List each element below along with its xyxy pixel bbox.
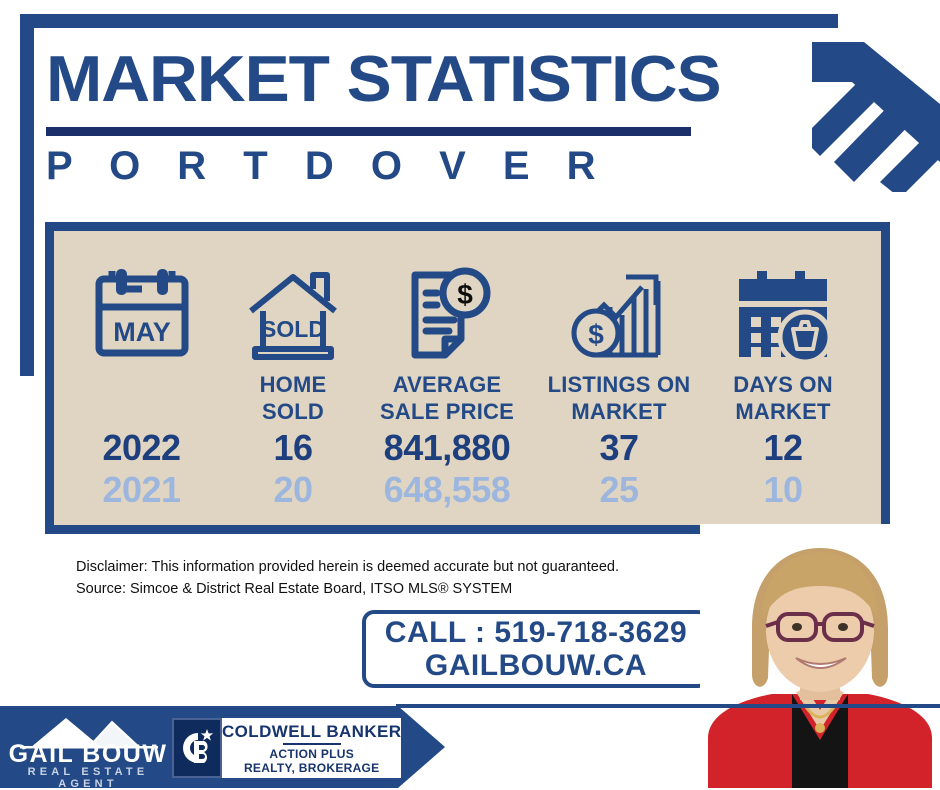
value-previous: 20	[273, 469, 312, 511]
label-line-1: LISTINGS ON	[548, 371, 691, 398]
value-previous: 25	[599, 469, 638, 511]
label-line-2: MARKET	[548, 398, 691, 425]
svg-text:$: $	[457, 279, 473, 310]
page-title: MARKET STATISTICS	[46, 44, 836, 114]
svg-text:SOLD: SOLD	[261, 316, 325, 342]
values-days-on-market: 12 10	[701, 427, 865, 511]
svg-text:MAY: MAY	[113, 317, 171, 347]
value-current: 37	[599, 427, 638, 469]
calendar-basket-icon	[733, 255, 833, 363]
footer-divider-rule	[396, 704, 940, 708]
contact-website[interactable]: GAILBOUW.CA	[425, 649, 647, 682]
market-statistics-graphic: MARKET STATISTICS P O R T D O V E R	[0, 0, 940, 788]
frame-left-border	[20, 14, 34, 376]
label-line-2: SOLD	[260, 398, 327, 425]
frame-top-border	[20, 14, 838, 28]
brokerage-line-2: ACTION PLUS	[269, 747, 354, 761]
brokerage-name-block: COLDWELL BANKER ACTION PLUS REALTY, BROK…	[222, 718, 401, 778]
agent-photo	[700, 524, 940, 788]
document-dollar-icon: $	[399, 255, 495, 363]
label-line-1: AVERAGE	[380, 371, 514, 398]
stat-label-average-sale-price: AVERAGE SALE PRICE	[380, 371, 514, 425]
label-line-2: MARKET	[733, 398, 833, 425]
stat-label-listings-on-market: LISTINGS ON MARKET	[548, 371, 691, 425]
value-current: 12	[763, 427, 802, 469]
year-labels-column: 2022 2021	[54, 427, 229, 511]
values-home-sold: 16 20	[229, 427, 357, 511]
brokerage-logo: COLDWELL BANKER ACTION PLUS REALTY, BROK…	[172, 718, 400, 778]
growth-chart-dollar-icon: $	[570, 255, 668, 363]
label-line-1: DAYS ON	[733, 371, 833, 398]
disclaimer-line-1: Disclaimer: This information provided he…	[76, 556, 776, 578]
title-underline-rule	[46, 127, 691, 136]
year-label-previous: 2021	[102, 469, 180, 511]
stat-label-home-sold: HOME SOLD	[260, 371, 327, 425]
values-average-sale-price: 841,880 648,558	[357, 427, 537, 511]
contact-phone[interactable]: CALL : 519-718-3629	[385, 616, 687, 649]
svg-text:$: $	[588, 319, 604, 350]
agent-logo-tagline: REAL ESTATE AGENT	[8, 766, 168, 790]
stat-label-days-on-market: DAYS ON MARKET	[733, 371, 833, 425]
house-sold-icon: SOLD	[245, 255, 341, 363]
contact-callout-box[interactable]: CALL : 519-718-3629 GAILBOUW.CA	[362, 610, 710, 688]
value-current: 841,880	[384, 427, 511, 469]
agent-logo-name: GAIL BOUW	[8, 741, 168, 767]
coldwell-banker-cb-star-icon	[172, 718, 222, 778]
label-line-1: HOME	[260, 371, 327, 398]
values-listings-on-market: 37 25	[537, 427, 701, 511]
value-previous: 10	[763, 469, 802, 511]
value-current: 16	[273, 427, 312, 469]
disclaimer-line-2: Source: Simcoe & District Real Estate Bo…	[76, 578, 776, 600]
calendar-icon: MAY	[90, 255, 194, 363]
year-label-current: 2022	[102, 427, 180, 469]
brokerage-line-3: REALTY, BROKERAGE	[244, 761, 380, 775]
label-line-2: SALE PRICE	[380, 398, 514, 425]
page-subtitle-location: P O R T D O V E R	[46, 144, 609, 189]
brokerage-divider	[283, 743, 341, 745]
value-previous: 648,558	[384, 469, 511, 511]
statistics-panel: MAY SOLD	[45, 222, 890, 534]
brokerage-line-1: COLDWELL BANKER	[222, 722, 401, 741]
disclaimer-text: Disclaimer: This information provided he…	[76, 556, 776, 600]
stat-values-grid: 2022 2021 16 20 841,880 648,558 37 25 12…	[54, 427, 881, 511]
